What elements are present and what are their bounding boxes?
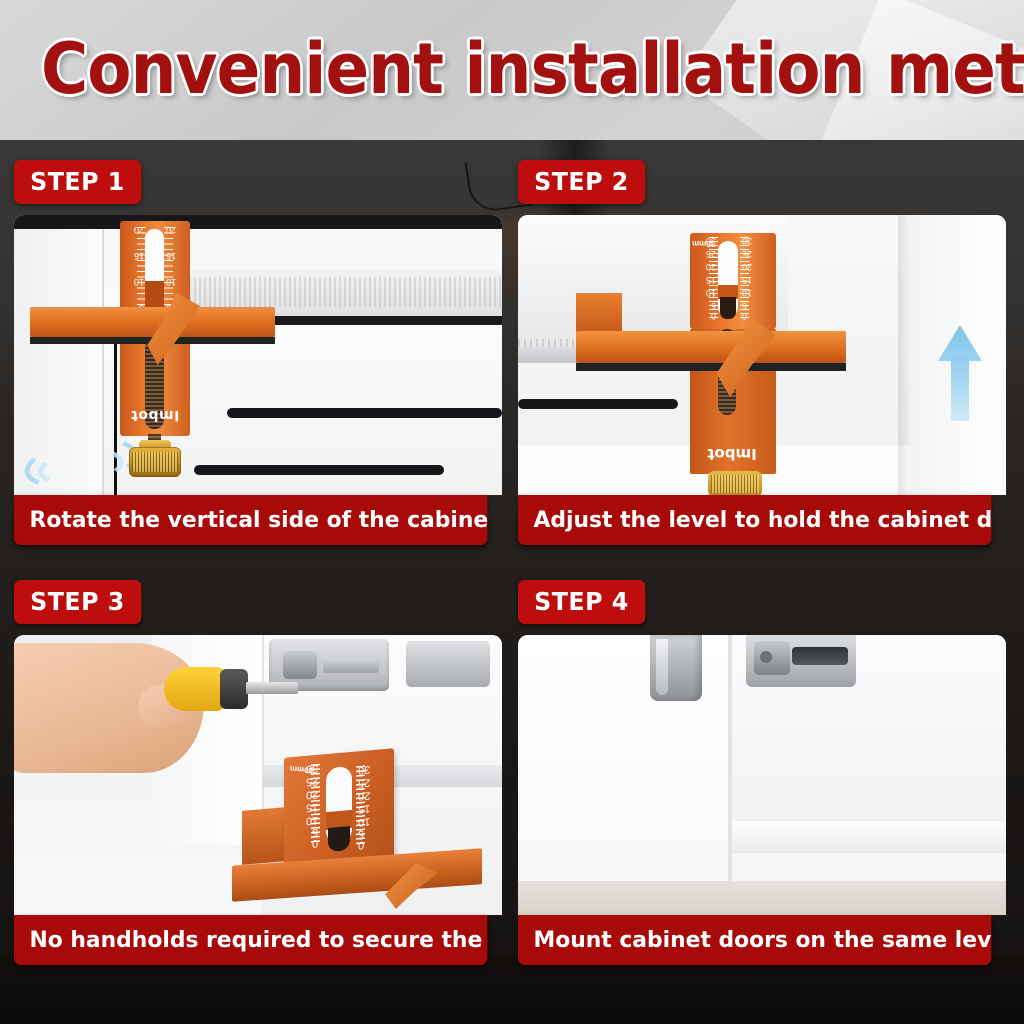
door-handle-bar [518, 399, 678, 409]
step-badge-1: STEP 1 [14, 160, 141, 204]
step-caption-3: No handholds required to secure the door [14, 915, 487, 965]
brand-logo: Imbot [692, 445, 772, 463]
step-badge-2: STEP 2 [518, 160, 645, 204]
brass-adjust-knob[interactable] [708, 471, 762, 495]
infographic-page: Convenient installation method STEP 1 [0, 0, 1024, 1024]
step-photo-1: 20 15 10 5 0 20 15 10 5 0 [14, 215, 502, 495]
step-card-3: STEP 3 [14, 580, 502, 965]
step-photo-2: 30mm 30 25 20 15 10 5 0 [518, 215, 1006, 495]
jig-slot-shadow [720, 297, 736, 319]
jig-left-foot [576, 293, 622, 333]
brand-logo: Imbot [122, 405, 188, 423]
shelf-texture [164, 277, 502, 307]
jig-crossbar [576, 331, 846, 363]
cabinet-top-edge [14, 215, 502, 229]
cabinet-jig-tool-2: 30mm 30 25 20 15 10 5 0 [666, 233, 826, 481]
door-handle-bar-lower [194, 465, 444, 475]
jig-crossbar-pad [576, 363, 846, 371]
hinge-icon-left [650, 635, 702, 701]
jig-left-foot [242, 807, 286, 865]
step-caption-4: Mount cabinet doors on the same level [518, 915, 991, 965]
hinge-icon-secondary [406, 641, 490, 687]
screwdriver-icon [164, 665, 294, 713]
cabinet-shelf [732, 821, 1006, 853]
door-handle-bar-upper [227, 408, 502, 418]
step-card-1: STEP 1 [14, 160, 502, 545]
step-card-4: STEP 4 Mount cabinet doo [518, 580, 1006, 965]
cabinet-jig-tool-3: 30mm 30 25 20 15 10 5 0 [260, 753, 490, 915]
steps-grid: STEP 1 [0, 140, 1024, 1024]
scale-right: 30 25 20 15 10 5 0 [740, 237, 768, 321]
scale-left: 30 25 20 15 10 5 0 [690, 237, 718, 321]
step-badge-3: STEP 3 [14, 580, 141, 624]
hinge-icon-right [746, 635, 856, 687]
cabinet-floor [518, 881, 1006, 915]
step-caption-1: Rotate the vertical side of the cabinet … [14, 495, 487, 545]
page-title: Convenient installation method [41, 32, 983, 106]
scale-right: 30 25 20 15 10 5 0 [356, 764, 386, 847]
cabinet-jig-tool-1: 20 15 10 5 0 20 15 10 5 0 [92, 221, 212, 471]
step-badge-4: STEP 4 [518, 580, 645, 624]
scale-left: 30 25 20 15 10 5 0 [290, 764, 320, 847]
up-arrow-icon [938, 325, 982, 421]
header-banner: Convenient installation method [0, 0, 1024, 140]
step-photo-3: 30mm 30 25 20 15 10 5 0 [14, 635, 502, 915]
step-card-2: STEP 2 30 [518, 160, 1006, 545]
jig-crossbar [30, 307, 275, 337]
brass-adjust-knob[interactable] [129, 447, 181, 477]
step-photo-4 [518, 635, 1006, 915]
step-caption-2: Adjust the level to hold the cabinet doo… [518, 495, 991, 545]
